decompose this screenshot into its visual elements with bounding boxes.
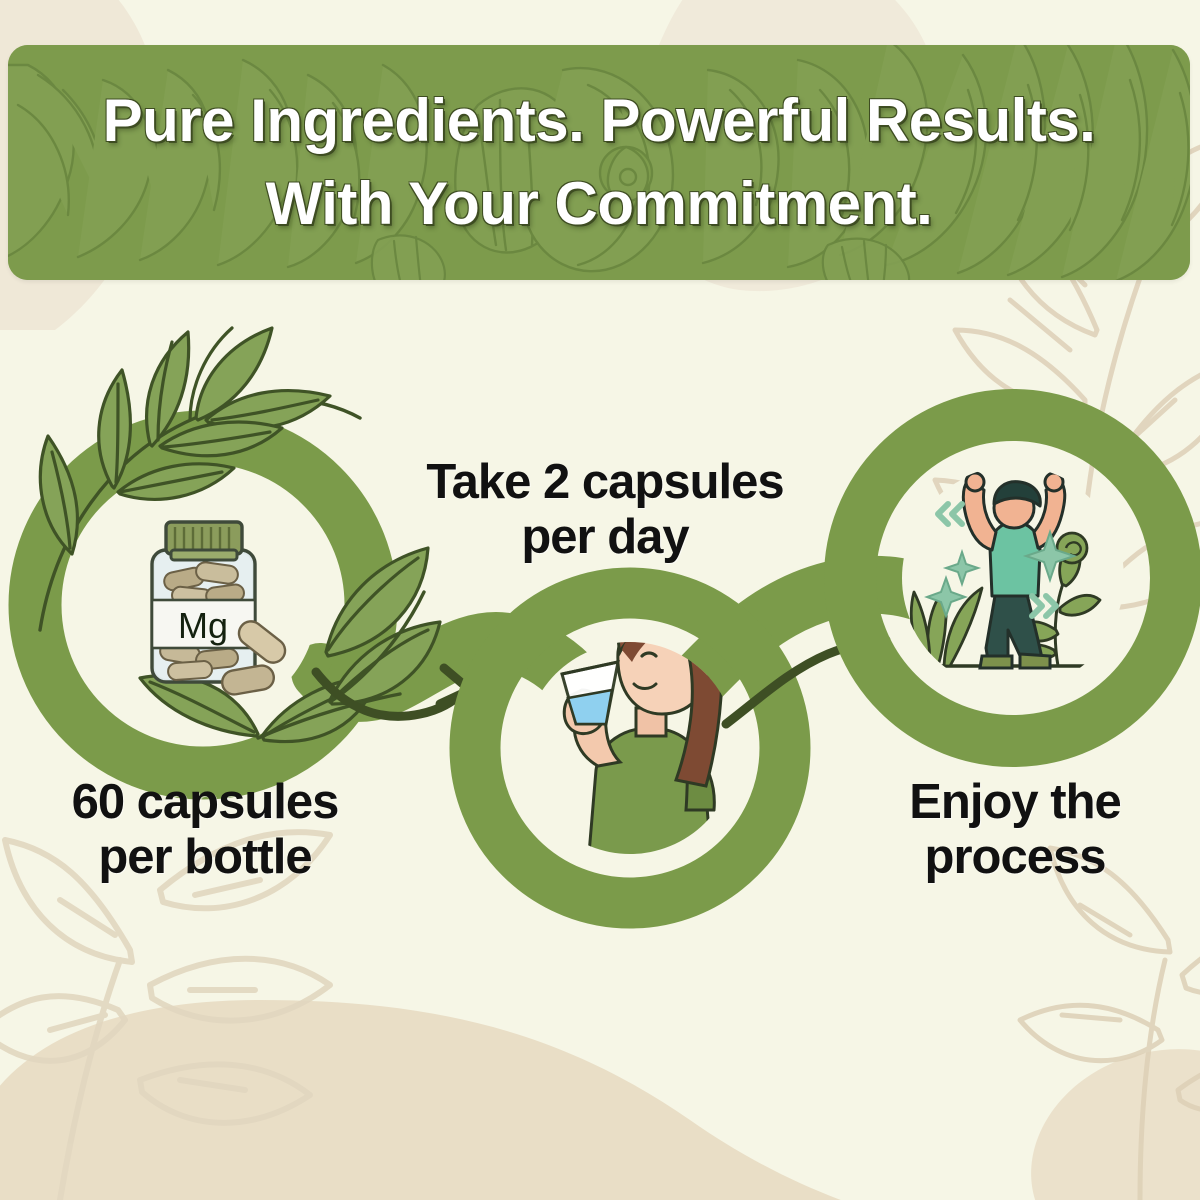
header-banner: Pure Ingredients. Powerful Results. With… xyxy=(8,45,1190,280)
banner-headline-line2: With Your Commitment. xyxy=(266,166,933,243)
step-label-take-capsules: Take 2 capsules per day xyxy=(370,455,840,565)
banner-headline-line1: Pure Ingredients. Powerful Results. xyxy=(103,83,1096,160)
bottle-label-text: Mg xyxy=(178,605,228,646)
step-label-capsules-per-bottle: 60 capsules per bottle xyxy=(10,775,400,885)
banner-text-block: Pure Ingredients. Powerful Results. With… xyxy=(8,45,1190,280)
step-label-enjoy-process: Enjoy the process xyxy=(845,775,1185,885)
infographic-canvas: Pure Ingredients. Powerful Results. With… xyxy=(0,0,1200,1200)
